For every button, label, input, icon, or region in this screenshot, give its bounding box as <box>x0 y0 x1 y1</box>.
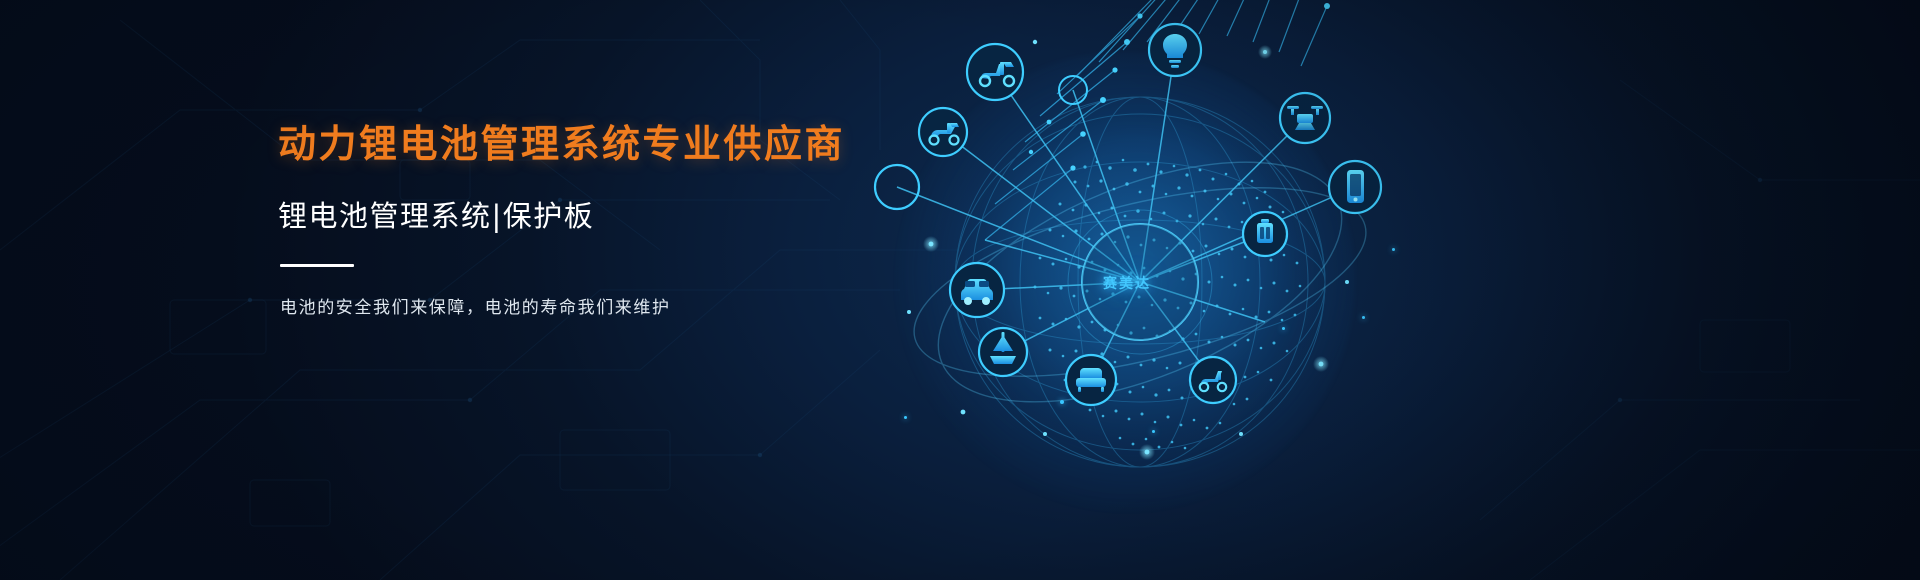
node-battery-pack-icon <box>1243 212 1287 256</box>
spark-dot <box>1060 400 1064 404</box>
node-boat-icon <box>979 328 1027 376</box>
hero-banner: 动力锂电池管理系统专业供应商 锂电池管理系统|保护板 电池的安全我们来保障，电池… <box>0 0 1920 580</box>
node-drone-icon <box>1280 93 1330 143</box>
hero-tagline: 电池的安全我们来保障，电池的寿命我们来维护 <box>280 293 898 318</box>
spark-dot <box>1152 430 1155 433</box>
hero-subtitle: 锂电池管理系统|保护板 <box>278 199 898 234</box>
node-lightbulb-icon <box>1149 24 1201 76</box>
globe-center-brand-label: 赛美达 <box>1103 273 1151 293</box>
spark-dot <box>904 416 907 419</box>
node-ebike-icon <box>919 108 967 156</box>
node-scooter-icon <box>967 44 1023 100</box>
hero-copy: 动力锂电池管理系统专业供应商 锂电池管理系统|保护板 电池的安全我们来保障，电池… <box>278 122 898 318</box>
node-smartphone-icon <box>1329 161 1381 213</box>
page-title: 动力锂电池管理系统专业供应商 <box>278 122 898 167</box>
spark-dot <box>1362 316 1365 319</box>
spark-dot <box>1392 248 1395 251</box>
node-scooter-small-icon <box>1190 357 1236 403</box>
node-robot-vacuum-icon <box>1066 355 1116 405</box>
node-car-icon <box>950 263 1004 317</box>
spark-dot <box>1282 327 1285 330</box>
iot-network-globe: 赛美达 <box>835 0 1435 580</box>
title-divider <box>280 264 354 267</box>
